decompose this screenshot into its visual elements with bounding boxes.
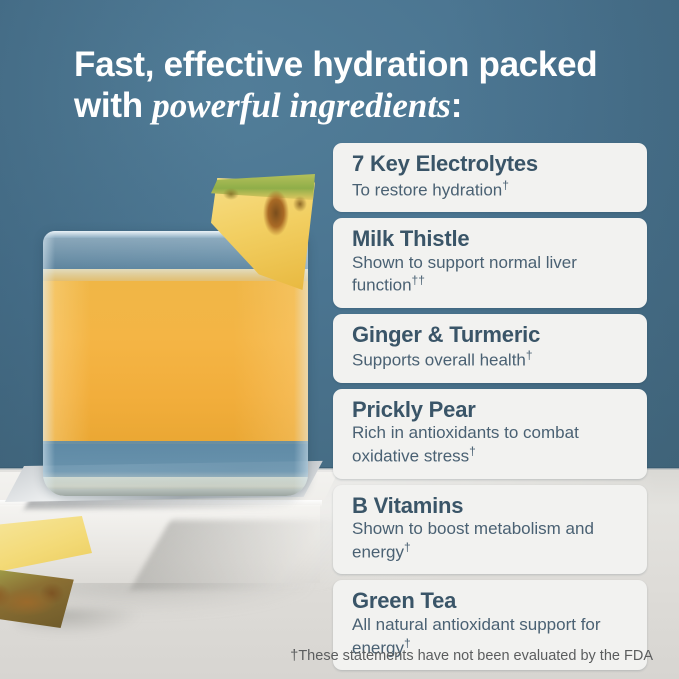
foreground-pineapple-eyes	[0, 578, 70, 622]
product-benefits-infographic: Fast, effective hydration packed with po…	[0, 0, 679, 679]
pineapple-wedge-eye	[293, 196, 307, 212]
ingredient-title: Green Tea	[352, 589, 647, 614]
headline-line-2-prefix: with	[74, 86, 152, 125]
ingredient-description: Supports overall health†	[352, 348, 647, 371]
glass-base-highlight	[43, 477, 308, 489]
ingredient-description-text: Supports overall health	[352, 351, 526, 370]
ingredient-card[interactable]: 7 Key Electrolytes To restore hydration†	[333, 143, 647, 212]
juice-highlight	[43, 281, 308, 444]
footnote-dagger: †	[469, 444, 476, 458]
ingredient-title: 7 Key Electrolytes	[352, 152, 647, 177]
pineapple-wedge-garnish-icon	[205, 166, 323, 294]
ingredient-title: Milk Thistle	[352, 227, 647, 252]
ingredient-card[interactable]: Ginger & Turmeric Supports overall healt…	[333, 314, 647, 383]
ingredient-card[interactable]: Milk Thistle Shown to support normal liv…	[333, 218, 647, 308]
page-headline: Fast, effective hydration packed with po…	[74, 44, 634, 127]
footnote-dagger: †	[404, 540, 411, 554]
ingredient-card[interactable]: B Vitamins Shown to boost metabolism and…	[333, 485, 647, 575]
ingredient-description: Shown to support normal liver function††	[352, 253, 647, 297]
ingredient-title: Prickly Pear	[352, 398, 647, 423]
ingredient-title: Ginger & Turmeric	[352, 323, 647, 348]
pineapple-wedge-eye	[223, 188, 239, 200]
headline-line-2-suffix: :	[451, 86, 462, 125]
headline-line-1: Fast, effective hydration packed	[74, 45, 597, 84]
footnote-dagger: ††	[412, 273, 425, 287]
headline-emphasis: powerful ingredients	[152, 86, 451, 125]
ingredient-title: B Vitamins	[352, 494, 647, 519]
fda-disclaimer: †These statements have not been evaluate…	[243, 648, 653, 664]
ingredient-description-text: Shown to support normal liver function	[352, 253, 577, 295]
ingredient-description: Shown to boost metabolism and energy†	[352, 519, 647, 563]
glass-left-edge-highlight	[43, 231, 55, 496]
ingredient-description-text: Rich in antioxidants to combat oxidative…	[352, 423, 579, 465]
ingredient-description-text: To restore hydration	[352, 180, 502, 199]
ingredient-description: To restore hydration†	[352, 178, 647, 201]
ingredient-description: Rich in antioxidants to combat oxidative…	[352, 423, 647, 467]
ingredient-card-list: 7 Key Electrolytes To restore hydration†…	[333, 143, 647, 670]
footnote-dagger: †	[526, 348, 533, 362]
ingredient-card[interactable]: Prickly Pear Rich in antioxidants to com…	[333, 389, 647, 479]
ingredient-description-text: Shown to boost metabolism and energy	[352, 519, 594, 561]
pineapple-wedge-core	[263, 190, 289, 236]
footnote-dagger: †	[502, 178, 509, 192]
foreground-pineapple-slice	[0, 516, 96, 640]
